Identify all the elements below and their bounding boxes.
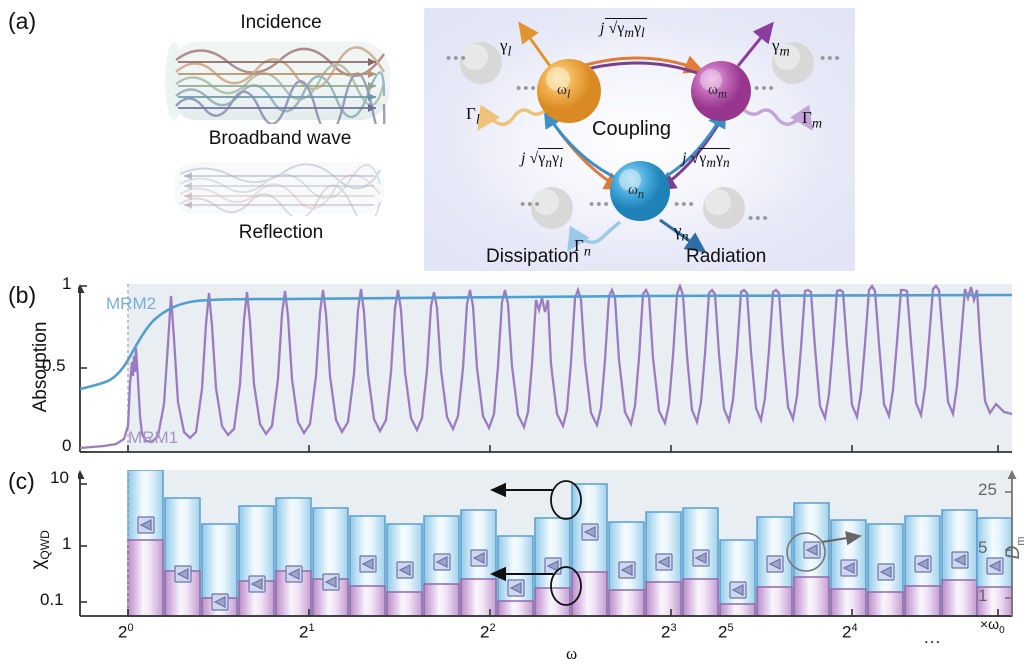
coupling-ml-sub2: l: [641, 25, 645, 40]
panel-c-xtick-0: 20: [118, 622, 134, 643]
coupling-nl-gamma2: γ: [552, 150, 559, 167]
reflection-illustration: [170, 160, 388, 216]
panel-c-ytick-1: 1: [62, 534, 71, 554]
Gamma-l-symbol: Γ: [466, 104, 476, 123]
panel-b-ytick-0: 0: [62, 436, 71, 456]
panel-b-plot: [78, 284, 1018, 460]
panel-c-xunit: ×ω0: [980, 616, 1005, 636]
panel-c-xtick-2: 22: [480, 622, 496, 643]
omega-n-symbol: ω: [628, 182, 638, 198]
panel-c-ylabel-left: χQWD: [28, 505, 52, 595]
Gamma-m-symbol: Γ: [802, 108, 812, 127]
dissipation-Gamma-m: Γm: [802, 108, 822, 132]
dots-upper-right: •••: [820, 50, 842, 67]
dissipation-Gamma-l: Γl: [466, 104, 480, 128]
coupling-mn-sub1: m: [706, 155, 716, 170]
radiation-label: Radiation: [686, 246, 766, 268]
xtick-5-exp: 5: [727, 622, 733, 634]
coupling-ml-sub1: m: [624, 25, 634, 40]
coupling-nl-sub1: n: [545, 155, 552, 170]
panel-c-xtick-1: 21: [299, 622, 315, 643]
radiation-gamma-m: γm: [772, 36, 790, 60]
gamma-n-symbol: γ: [674, 221, 682, 240]
node-label-omega-n: ωn: [628, 182, 644, 202]
xunit-symbol: ×ω: [980, 616, 999, 632]
omega-l-subscript: l: [567, 87, 570, 101]
dots-lower-left-out: •••: [520, 196, 542, 213]
panel-b-ytick-1: 1: [62, 274, 71, 294]
coupling-diagram: ••• ••• ••• ••• ••• ••• ••• ••• ωl ωm ωn…: [424, 8, 855, 271]
dots-upper-left: •••: [446, 50, 468, 67]
panel-c-xtick-4: 24: [842, 622, 858, 643]
xtick-1-exp: 1: [308, 622, 314, 634]
panel-c-xtick-ellipsis: ...: [924, 628, 941, 648]
panel-a: (a) Incidence: [0, 0, 1024, 278]
broadband-wave-label: Broadband wave: [160, 128, 400, 150]
coupling-term-mn: j√γmγn: [682, 150, 732, 171]
dissipation-label: Dissipation: [486, 246, 579, 268]
dots-lower-left-in: •••: [589, 196, 611, 213]
panel-c-plot: [78, 470, 1018, 620]
Gamma-n-subscript: n: [584, 243, 591, 259]
coupling-ml-prefix: j: [600, 20, 604, 37]
chi-symbol: χ: [28, 560, 49, 570]
Gamma-m-subscript: m: [812, 115, 822, 131]
coupling-term-ml: j√γmγl: [600, 20, 647, 41]
broadband-wave-illustration: [162, 38, 396, 124]
xunit-subscript: 0: [999, 625, 1005, 636]
panel-c-ytick-01: 0.1: [40, 590, 64, 610]
reflection-label: Reflection: [186, 222, 376, 244]
dots-inner-left: •••: [516, 80, 538, 97]
panel-c-ytick-right-1: 1: [978, 586, 987, 606]
coupling-nl-prefix: j: [521, 150, 525, 167]
panel-c: (c) χQWD 10 1 0.1: [0, 464, 1024, 669]
panel-a-letter: (a): [8, 8, 36, 35]
gamma-l-symbol: γ: [500, 36, 508, 55]
node-label-omega-l: ωl: [557, 82, 570, 102]
panel-c-ylabel-right: Dm: [1003, 518, 1024, 578]
coupling-mn-gamma2: γ: [716, 150, 723, 167]
panel-b: (b) Absorption 1 0.5 0 MRM2 MRM1: [0, 278, 1024, 464]
panel-c-ytick-right-25: 25: [978, 480, 997, 500]
radiation-gamma-n: γn: [674, 221, 689, 245]
node-label-omega-m: ωm: [708, 82, 727, 102]
omega-m-symbol: ω: [708, 82, 718, 98]
xtick-2-exp: 2: [489, 622, 495, 634]
xtick-4-exp: 4: [851, 622, 857, 634]
gamma-m-symbol: γ: [772, 36, 780, 55]
gamma-n-subscript: n: [682, 228, 689, 244]
xtick-3-exp: 3: [670, 622, 676, 634]
coupling-term-nl: j√γnγl: [521, 150, 565, 171]
D-symbol: D: [1003, 546, 1024, 560]
panel-c-xlabel: ω: [566, 644, 577, 664]
panel-b-ytick-05: 0.5: [42, 356, 66, 376]
panel-c-xtick-3: 23: [661, 622, 677, 643]
dots-inner-right: •••: [754, 80, 776, 97]
dots-lower-right-in: •••: [674, 196, 696, 213]
coupling-ml-gamma2: γ: [634, 20, 641, 37]
dots-lower-right-out: •••: [748, 210, 770, 227]
coupling-mn-sub2: n: [723, 155, 730, 170]
gamma-l-subscript: l: [508, 43, 512, 59]
incidence-label: Incidence: [176, 12, 386, 34]
D-subscript: m: [1015, 536, 1024, 545]
omega-l-symbol: ω: [557, 82, 567, 98]
coupling-center-label: Coupling: [592, 118, 671, 141]
mrm2-series-label: MRM2: [106, 294, 156, 314]
panel-c-xtick-5: 25: [718, 622, 734, 643]
panel-c-ytick-right-5: 5: [978, 538, 987, 558]
omega-m-subscript: m: [718, 87, 727, 101]
xtick-0-exp: 0: [127, 622, 133, 634]
Gamma-l-subscript: l: [476, 111, 480, 127]
coupling-nl-sub2: l: [559, 155, 563, 170]
panel-c-letter: (c): [8, 468, 35, 495]
mrm1-series-label: MRM1: [128, 428, 178, 448]
chi-subscript: QWD: [38, 530, 52, 559]
omega-n-subscript: n: [638, 187, 644, 201]
coupling-mn-prefix: j: [682, 150, 686, 167]
radiation-gamma-l: γl: [500, 36, 511, 60]
panel-c-ytick-10: 10: [50, 468, 69, 488]
gamma-m-subscript: m: [780, 43, 790, 59]
